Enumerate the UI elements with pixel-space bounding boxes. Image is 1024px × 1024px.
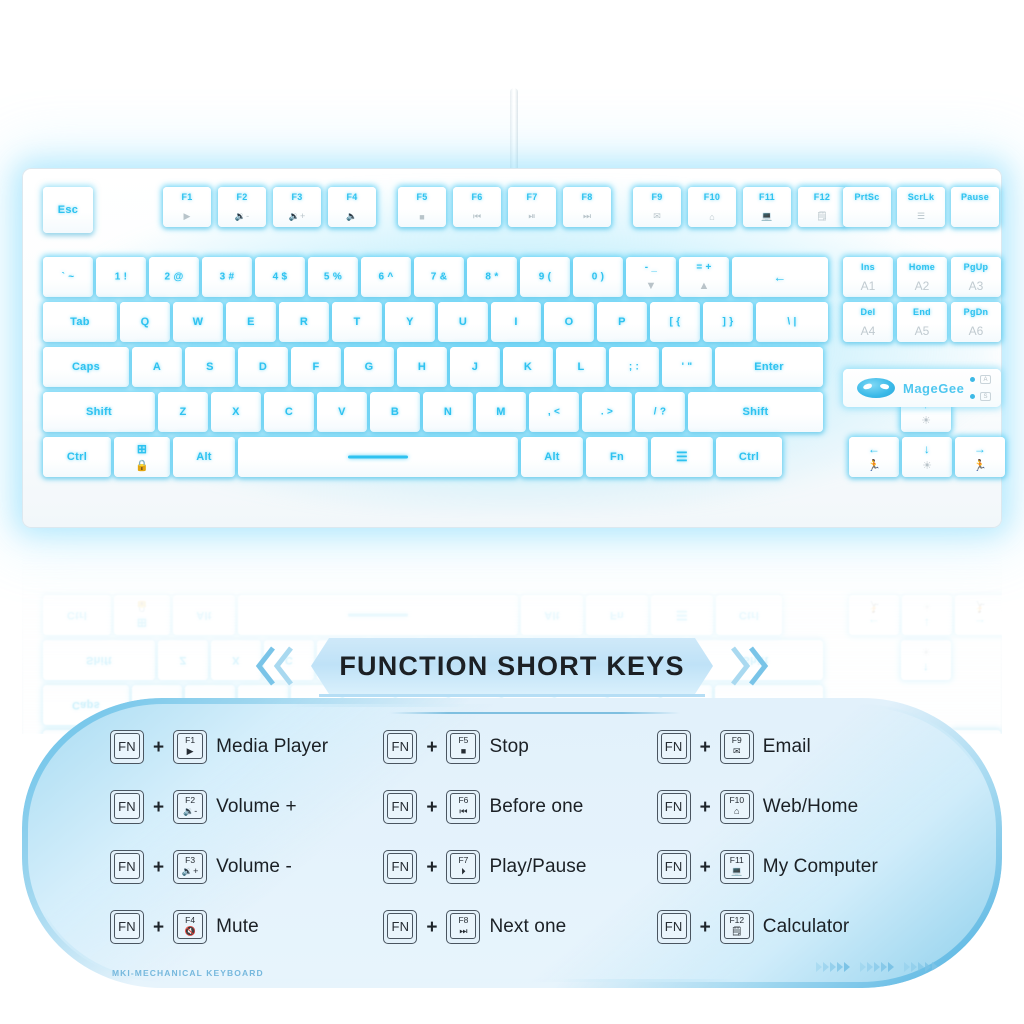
key-Z[interactable]: Z	[158, 392, 208, 432]
chevron-left-outer-icon	[255, 646, 275, 686]
key-arrow-left: ←🏃	[849, 595, 899, 635]
shortcut-action-label: My Computer	[763, 856, 878, 878]
shortcut-action-label: Before one	[489, 796, 583, 818]
fkey-keycap-icon: F9✉	[720, 730, 754, 764]
fkey-keycap-icon: F6⏮	[446, 790, 480, 824]
shortcut-action-label: Volume +	[216, 796, 297, 818]
key-num-4[interactable]: 4 $	[255, 257, 305, 297]
key-[interactable]: ] }	[703, 302, 753, 342]
plus-sign: +	[153, 798, 164, 817]
key-punct11[interactable]: ' "	[662, 347, 712, 387]
key-num-7[interactable]: 7 &	[414, 257, 464, 297]
key-alt-right: Alt	[521, 595, 583, 635]
fn-keycap-icon: FN	[383, 790, 417, 824]
shortcut-list: FN+F1▶Media PlayerFN+F5■StopFN+F9✉EmailF…	[110, 730, 930, 944]
key-num-10[interactable]: 0 )	[573, 257, 623, 297]
fkey-keycap-icon: F3🔉+	[173, 850, 207, 884]
key-F[interactable]: F	[291, 347, 341, 387]
key-f11[interactable]: F11💻	[743, 187, 791, 227]
key-R[interactable]: R	[279, 302, 329, 342]
key-f7[interactable]: F7⏯	[508, 187, 556, 227]
fkey-keycap-icon: F5■	[446, 730, 480, 764]
key-D[interactable]: D	[238, 347, 288, 387]
fkey-keycap-icon: F4🔇	[173, 910, 207, 944]
key-punct10[interactable]: / ?	[635, 392, 685, 432]
key-shift-right[interactable]: Shift	[688, 392, 823, 432]
shortcut-row: FN+F4🔇Mute	[110, 910, 383, 944]
key-f1[interactable]: F1▶	[163, 187, 211, 227]
fn-keycap-icon: FN	[110, 850, 144, 884]
key-M[interactable]: M	[476, 392, 526, 432]
key-pgup[interactable]: PgUpA3	[951, 257, 1001, 297]
plus-sign: +	[426, 798, 437, 817]
key-f5[interactable]: F5■	[398, 187, 446, 227]
key-f4[interactable]: F4🔈	[328, 187, 376, 227]
shortcut-action-label: Mute	[216, 916, 259, 938]
key-end[interactable]: EndA5	[897, 302, 947, 342]
panel-divider	[390, 712, 680, 714]
key-arrow-down[interactable]: ↓☀	[902, 437, 952, 477]
key-enter[interactable]: Enter	[715, 347, 823, 387]
key-punct9[interactable]: . >	[582, 392, 632, 432]
fn-keycap-icon: FN	[383, 910, 417, 944]
fn-keycap-icon: FN	[657, 730, 691, 764]
magegee-logo-icon	[857, 378, 895, 398]
key-punct8[interactable]: , <	[529, 392, 579, 432]
key-home[interactable]: HomeA2	[897, 257, 947, 297]
key-num-0[interactable]: ` ~	[43, 257, 93, 297]
key-E[interactable]: E	[226, 302, 276, 342]
key-fn: Fn	[586, 595, 648, 635]
chevron-group-3	[904, 962, 938, 972]
key-esc[interactable]: Esc	[43, 187, 93, 233]
plus-sign: +	[426, 918, 437, 937]
key-H[interactable]: H	[397, 347, 447, 387]
key-pause[interactable]: Pause	[951, 187, 999, 227]
shortcut-row: FN+F12🗒Calculator	[657, 910, 930, 944]
plus-sign: +	[700, 738, 711, 757]
shortcut-row: FN+F11💻My Computer	[657, 850, 930, 884]
led-dot-scroll	[970, 394, 975, 399]
key-equal[interactable]: = +▲	[679, 257, 729, 297]
key-arrow-down: ↓☀	[902, 595, 952, 635]
fn-keycap-icon: FN	[383, 730, 417, 764]
shortcut-action-label: Volume -	[216, 856, 292, 878]
key-arrow-right[interactable]: →🏃	[955, 437, 1005, 477]
footer-chevrons	[816, 962, 938, 972]
fn-keycap-icon: FN	[110, 730, 144, 764]
key-J[interactable]: J	[450, 347, 500, 387]
fn-keycap-icon: FN	[110, 790, 144, 824]
shortcut-action-label: Web/Home	[763, 796, 859, 818]
key-W[interactable]: W	[173, 302, 223, 342]
key-shift-left: Shift	[43, 640, 155, 680]
key-T[interactable]: T	[332, 302, 382, 342]
fn-keycap-icon: FN	[657, 850, 691, 884]
chevron-group-2	[860, 962, 894, 972]
key-L[interactable]: L	[556, 347, 606, 387]
key-K[interactable]: K	[503, 347, 553, 387]
shortcut-row: FN+F1▶Media Player	[110, 730, 383, 764]
shortcut-action-label: Stop	[489, 736, 529, 758]
footer-product-label: MKI-MECHANICAL KEYBOARD	[112, 968, 264, 978]
shortcut-action-label: Media Player	[216, 736, 328, 758]
product-image: EscF1▶F2🔉-F3🔉+F4🔈F5■F6⏮F7⏯F8⏭F9✉F10⌂F11💻…	[0, 0, 1024, 1024]
shortcut-action-label: Email	[763, 736, 811, 758]
key-Y[interactable]: Y	[385, 302, 435, 342]
key-B[interactable]: B	[370, 392, 420, 432]
fn-keycap-icon: FN	[657, 790, 691, 824]
key-num-2[interactable]: 2 @	[149, 257, 199, 297]
fn-keycap-icon: FN	[657, 910, 691, 944]
plus-sign: +	[426, 858, 437, 877]
banner-underline	[319, 694, 705, 697]
key-num-3[interactable]: 3 #	[202, 257, 252, 297]
key-f8[interactable]: F8⏭	[563, 187, 611, 227]
key-O[interactable]: O	[544, 302, 594, 342]
shortcut-action-label: Next one	[489, 916, 566, 938]
key-X[interactable]: X	[211, 392, 261, 432]
key-del[interactable]: DelA4	[843, 302, 893, 342]
key-arrow-left[interactable]: ←🏃	[849, 437, 899, 477]
key-alt-left: Alt	[173, 595, 235, 635]
key-S[interactable]: S	[185, 347, 235, 387]
shortcut-row: FN+F6⏮Before one	[383, 790, 656, 824]
brand-plate: MageGee A S	[843, 369, 1001, 407]
keyboard: EscF1▶F2🔉-F3🔉+F4🔈F5■F6⏮F7⏯F8⏭F9✉F10⌂F11💻…	[22, 168, 1002, 528]
key-menu[interactable]: ☰	[651, 437, 713, 477]
key-f2[interactable]: F2🔉-	[218, 187, 266, 227]
key-space[interactable]	[238, 437, 518, 477]
key-scrlk[interactable]: ScrLk☰	[897, 187, 945, 227]
key-ins[interactable]: InsA1	[843, 257, 893, 297]
shortcut-row: FN+F3🔉+Volume -	[110, 850, 383, 884]
banner: FUNCTION SHORT KEYS	[255, 638, 769, 700]
key-f12[interactable]: F12🗒	[798, 187, 846, 227]
key-f3[interactable]: F3🔉+	[273, 187, 321, 227]
fn-keycap-icon: FN	[110, 910, 144, 944]
key-arrow-right: →🏃	[955, 595, 1002, 635]
key-tab[interactable]: Tab	[43, 302, 117, 342]
key-Q[interactable]: Q	[120, 302, 170, 342]
shortcut-row: FN+F2🔉-Volume +	[110, 790, 383, 824]
plus-sign: +	[153, 918, 164, 937]
key-ctrl-left[interactable]: Ctrl	[43, 437, 111, 477]
key-N[interactable]: N	[423, 392, 473, 432]
key-X: X	[211, 640, 261, 680]
key-[interactable]: [ {	[650, 302, 700, 342]
key-G[interactable]: G	[344, 347, 394, 387]
scroll-lock-icon: S	[980, 392, 991, 401]
key-num-1[interactable]: 1 !	[96, 257, 146, 297]
fkey-keycap-icon: F11💻	[720, 850, 754, 884]
key-caps[interactable]: Caps	[43, 347, 129, 387]
chevron-right-outer-icon	[749, 646, 769, 686]
banner-title: FUNCTION SHORT KEYS	[339, 651, 684, 682]
caps-lock-icon: A	[980, 375, 991, 384]
key-minus[interactable]: - _▼	[626, 257, 676, 297]
fn-keycap-icon: FN	[383, 850, 417, 884]
key-C[interactable]: C	[264, 392, 314, 432]
key-punct10[interactable]: ; :	[609, 347, 659, 387]
key-win[interactable]: ⊞🔒	[114, 437, 170, 477]
fkey-keycap-icon: F2🔉-	[173, 790, 207, 824]
key-V[interactable]: V	[317, 392, 367, 432]
led-dot-caps	[970, 377, 975, 382]
key-num-8[interactable]: 8 *	[467, 257, 517, 297]
key-alt-right[interactable]: Alt	[521, 437, 583, 477]
key-num-5[interactable]: 5 %	[308, 257, 358, 297]
plus-sign: +	[426, 738, 437, 757]
key-num-9[interactable]: 9 (	[520, 257, 570, 297]
key-fn[interactable]: Fn	[586, 437, 648, 477]
fkey-keycap-icon: F10⌂	[720, 790, 754, 824]
key-ctrl-right: Ctrl	[716, 595, 782, 635]
plus-sign: +	[153, 738, 164, 757]
fkey-keycap-icon: F12🗒	[720, 910, 754, 944]
key-P[interactable]: P	[597, 302, 647, 342]
usb-cable	[510, 88, 518, 174]
shortcut-row: FN+F5■Stop	[383, 730, 656, 764]
banner-plate: FUNCTION SHORT KEYS	[311, 638, 713, 694]
fkey-keycap-icon: F8⏭	[446, 910, 480, 944]
plus-sign: +	[153, 858, 164, 877]
key-ctrl-left: Ctrl	[43, 595, 111, 635]
key-space	[238, 595, 518, 635]
key-prtsc[interactable]: PrtSc	[843, 187, 891, 227]
key-A[interactable]: A	[132, 347, 182, 387]
chevron-left-inner-icon	[273, 646, 293, 686]
fkey-keycap-icon: F1▶	[173, 730, 207, 764]
plus-sign: +	[700, 858, 711, 877]
key-f9[interactable]: F9✉	[633, 187, 681, 227]
key-f10[interactable]: F10⌂	[688, 187, 736, 227]
key-Z: Z	[158, 640, 208, 680]
key-shift-left[interactable]: Shift	[43, 392, 155, 432]
key-win: ⊞🔒	[114, 595, 170, 635]
chevron-group-1	[816, 962, 850, 972]
indicator-leds: A S	[970, 375, 991, 401]
shortcut-row: FN+F10⌂Web/Home	[657, 790, 930, 824]
key-[interactable]: \ |	[756, 302, 828, 342]
plus-sign: +	[700, 798, 711, 817]
key-backspace[interactable]: ←	[732, 257, 828, 297]
key-num-6[interactable]: 6 ^	[361, 257, 411, 297]
key-menu: ☰	[651, 595, 713, 635]
chevron-right-inner-icon	[731, 646, 751, 686]
fkey-keycap-icon: F7⏵	[446, 850, 480, 884]
shortcut-action-label: Play/Pause	[489, 856, 586, 878]
shortcut-row: FN+F7⏵Play/Pause	[383, 850, 656, 884]
key-I[interactable]: I	[491, 302, 541, 342]
shortcut-row: FN+F8⏭Next one	[383, 910, 656, 944]
key-ctrl-right[interactable]: Ctrl	[716, 437, 782, 477]
key-f6[interactable]: F6⏮	[453, 187, 501, 227]
plus-sign: +	[700, 918, 711, 937]
key-U[interactable]: U	[438, 302, 488, 342]
shortcut-row: FN+F9✉Email	[657, 730, 930, 764]
brand-name: MageGee	[903, 381, 964, 396]
key-pgdn[interactable]: PgDnA6	[951, 302, 1001, 342]
key-alt-left[interactable]: Alt	[173, 437, 235, 477]
key-arrow-up: ↑☀	[901, 640, 951, 680]
shortcut-action-label: Calculator	[763, 916, 850, 938]
